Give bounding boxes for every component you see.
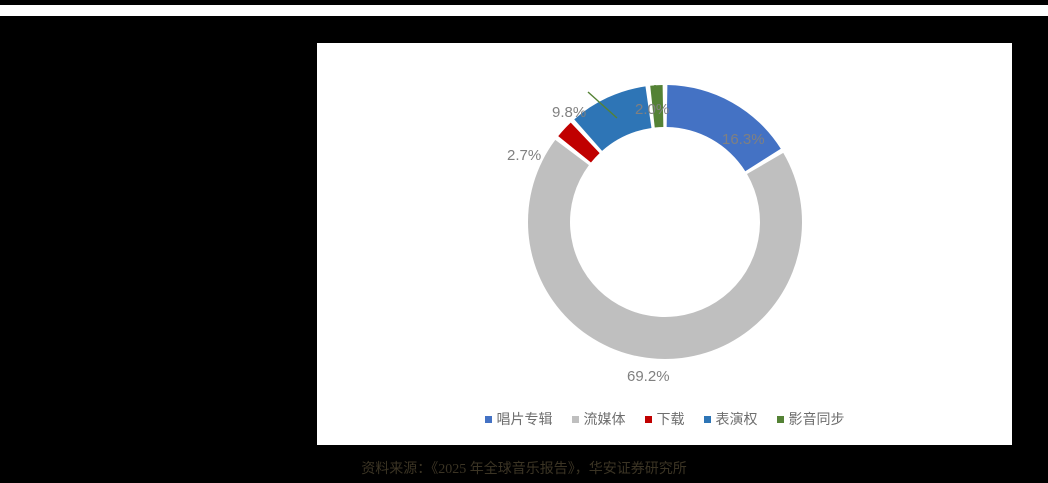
legend-item[interactable]: 唱片专辑	[485, 409, 553, 429]
legend-swatch-icon	[645, 416, 652, 423]
chart-legend: 唱片专辑流媒体下载表演权影音同步	[317, 405, 1012, 433]
legend-item[interactable]: 流媒体	[572, 409, 626, 429]
legend-swatch-icon	[572, 416, 579, 423]
slice-label-streaming: 69.2%	[627, 368, 670, 385]
legend-item-label: 唱片专辑	[497, 409, 553, 429]
slice-label-sync: 2.0%	[635, 101, 669, 118]
slice-label-album: 16.3%	[722, 131, 765, 148]
legend-swatch-icon	[485, 416, 492, 423]
legend-swatch-icon	[777, 416, 784, 423]
donut-chart-svg	[317, 43, 1012, 403]
donut-slice[interactable]	[528, 140, 802, 359]
donut-slices	[528, 85, 802, 359]
clipped-title-band	[0, 5, 1048, 16]
slice-label-performance: 9.8%	[552, 104, 586, 121]
donut-slice[interactable]	[667, 85, 781, 171]
legend-item-label: 流媒体	[584, 409, 626, 429]
legend-item-label: 影音同步	[789, 409, 845, 429]
chart-panel: 16.3% 69.2% 2.7% 9.8% 2.0% 唱片专辑流媒体下载表演权影…	[317, 43, 1012, 445]
legend-item[interactable]: 下载	[645, 409, 685, 429]
donut-chart: 16.3% 69.2% 2.7% 9.8% 2.0%	[317, 43, 1012, 403]
legend-swatch-icon	[704, 416, 711, 423]
legend-item[interactable]: 影音同步	[777, 409, 845, 429]
slice-label-download: 2.7%	[507, 147, 541, 164]
legend-item-label: 表演权	[716, 409, 758, 429]
source-note: 资料来源：《2025 年全球音乐报告》，华安证券研究所	[0, 458, 1048, 478]
legend-item[interactable]: 表演权	[704, 409, 758, 429]
legend-item-label: 下载	[657, 409, 685, 429]
